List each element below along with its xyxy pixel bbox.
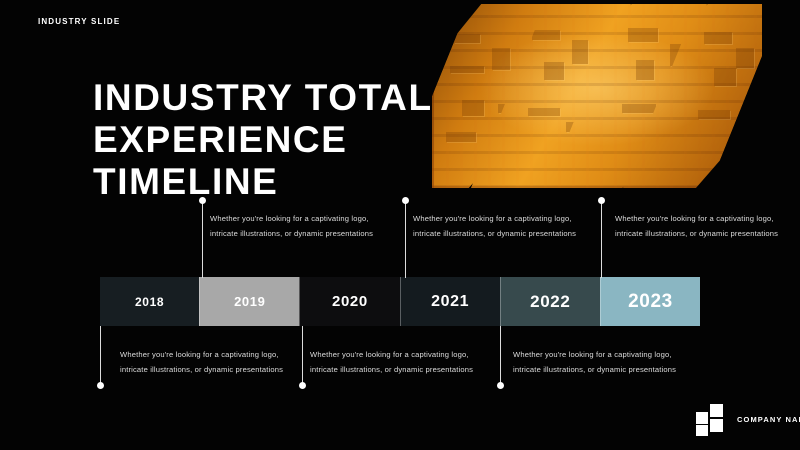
description-2018: Whether you're looking for a captivating… — [120, 348, 286, 377]
logo-square-bottom-right — [710, 419, 723, 432]
logo-square-bottom-left — [696, 425, 708, 436]
description-2022: Whether you're looking for a captivating… — [513, 348, 679, 377]
description-2021: Whether you're looking for a captivating… — [413, 212, 579, 241]
connector-dot — [497, 382, 504, 389]
four-square-grid-logo-icon — [696, 404, 728, 434]
timeline-segment-2023[interactable]: 2023 — [600, 277, 700, 326]
connector-line-2022 — [500, 326, 501, 386]
description-2023: Whether you're looking for a captivating… — [615, 212, 781, 241]
connector-line-2018 — [100, 326, 101, 386]
connector-line-2021 — [405, 200, 406, 278]
logo-square-middle-left — [696, 412, 708, 424]
timeline-year-label: 2020 — [332, 293, 368, 310]
description-2019: Whether you're looking for a captivating… — [210, 212, 376, 241]
description-2020: Whether you're looking for a captivating… — [310, 348, 476, 377]
timeline-bar: 2018 2019 2020 2021 2022 2023 — [100, 277, 700, 326]
connector-dot — [598, 197, 605, 204]
title-line-1: INDUSTRY TOTAL — [93, 77, 513, 119]
title-line-3: TIMELINE — [93, 161, 513, 203]
timeline-segment-2019[interactable]: 2019 — [199, 277, 299, 326]
connector-dot — [199, 197, 206, 204]
connector-line-2020 — [302, 326, 303, 386]
connector-dot — [97, 382, 104, 389]
company-logo: COMPANY NAME — [696, 402, 792, 436]
timeline-segment-2020[interactable]: 2020 — [299, 277, 399, 326]
timeline-year-label: 2019 — [234, 294, 265, 309]
timeline-year-label: 2022 — [530, 292, 570, 312]
title-line-2: EXPERIENCE — [93, 119, 513, 161]
company-name-label: COMPANY NAME — [737, 415, 800, 424]
connector-line-2019 — [202, 200, 203, 278]
timeline-year-label: 2023 — [628, 291, 673, 313]
connector-dot — [299, 382, 306, 389]
connector-dot — [402, 197, 409, 204]
presentation-slide: INDUSTRY SLIDE — [0, 0, 800, 450]
timeline-segment-2021[interactable]: 2021 — [400, 277, 500, 326]
timeline-segment-2018[interactable]: 2018 — [100, 277, 199, 326]
connector-line-2023 — [601, 200, 602, 278]
slide-eyebrow-label: INDUSTRY SLIDE — [38, 17, 120, 26]
timeline-year-label: 2018 — [135, 295, 164, 309]
logo-square-top-right — [710, 404, 723, 417]
page-title: INDUSTRY TOTAL EXPERIENCE TIMELINE — [93, 77, 513, 203]
timeline-segment-2022[interactable]: 2022 — [500, 277, 600, 326]
timeline-year-label: 2021 — [431, 293, 469, 311]
